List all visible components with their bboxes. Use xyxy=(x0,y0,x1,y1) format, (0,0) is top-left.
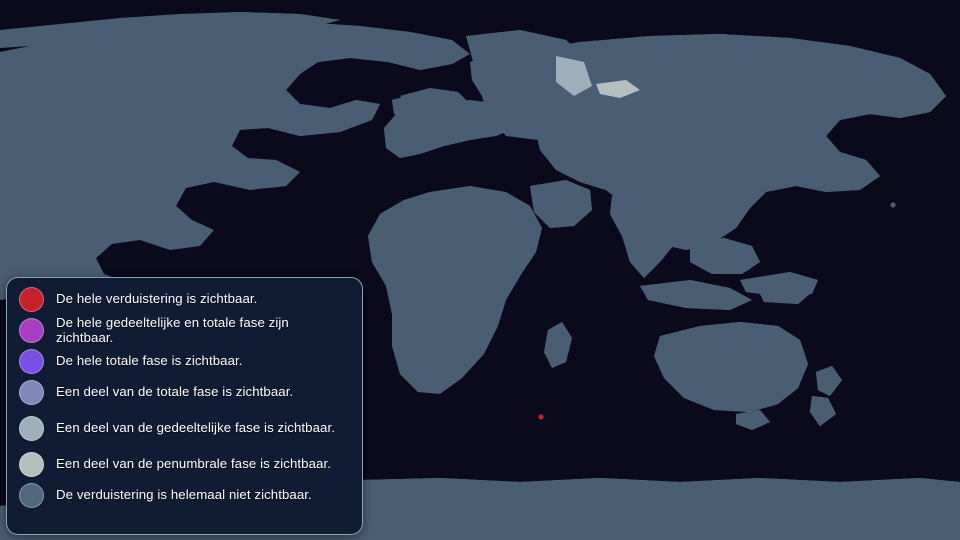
legend-label-whole-total: De hele totale fase is zichtbaar. xyxy=(56,353,243,368)
legend-item-part-total[interactable]: Een deel van de totale fase is zichtbaar… xyxy=(19,374,350,410)
legend-item-part-partial[interactable]: Een deel van de gedeeltelijke fase is zi… xyxy=(19,410,350,446)
legend-item-not-visible[interactable]: De verduistering is helemaal niet zichtb… xyxy=(19,482,350,508)
legend-label-part-total: Een deel van de totale fase is zichtbaar… xyxy=(56,384,293,399)
legend-swatch-whole-total xyxy=(19,349,44,374)
legend-item-whole-eclipse[interactable]: De hele verduistering is zichtbaar. xyxy=(19,286,350,312)
legend-item-whole-partial-total[interactable]: De hele gedeeltelijke en totale fase zij… xyxy=(19,312,350,348)
legend-label-not-visible: De verduistering is helemaal niet zichtb… xyxy=(56,487,312,502)
legend-item-whole-total[interactable]: De hele totale fase is zichtbaar. xyxy=(19,348,350,374)
legend-swatch-not-visible xyxy=(19,483,44,508)
legend-label-part-penumbral: Een deel van de penumbrale fase is zicht… xyxy=(56,456,331,471)
legend-swatch-whole-eclipse xyxy=(19,287,44,312)
legend-label-whole-eclipse: De hele verduistering is zichtbaar. xyxy=(56,291,257,306)
legend-swatch-part-penumbral xyxy=(19,452,44,477)
legend-label-part-partial: Een deel van de gedeeltelijke fase is zi… xyxy=(56,420,335,435)
legend-item-part-penumbral[interactable]: Een deel van de penumbrale fase is zicht… xyxy=(19,446,350,482)
legend-panel: De hele verduistering is zichtbaar. De h… xyxy=(6,277,363,535)
eclipse-visibility-map-screen: De hele verduistering is zichtbaar. De h… xyxy=(0,0,960,540)
legend-swatch-whole-partial-total xyxy=(19,318,44,343)
legend-swatch-part-total xyxy=(19,380,44,405)
legend-label-whole-partial-total: De hele gedeeltelijke en totale fase zij… xyxy=(56,315,350,346)
legend-swatch-part-partial xyxy=(19,416,44,441)
